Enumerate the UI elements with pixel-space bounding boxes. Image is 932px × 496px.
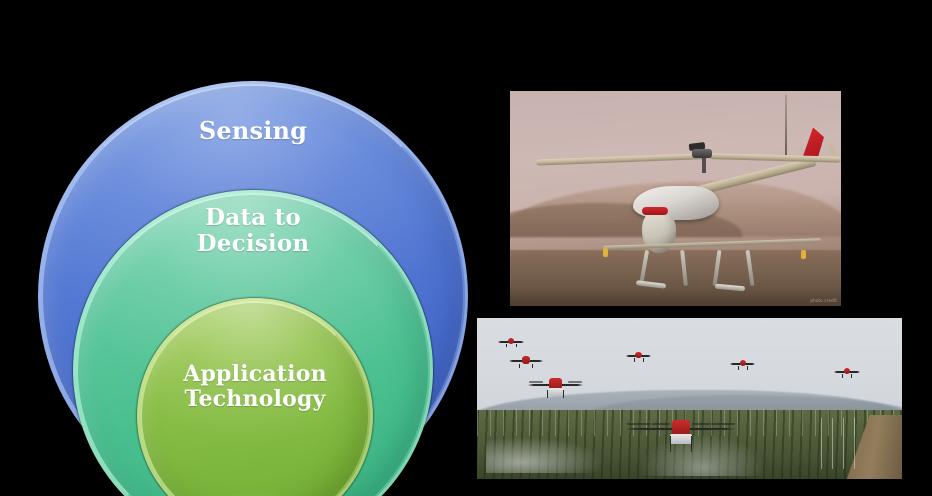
drone-foreground <box>626 415 737 446</box>
roadside-posts <box>821 418 864 470</box>
drone-5 <box>730 358 756 369</box>
drone-leg-left <box>670 436 671 452</box>
drone-leg-left <box>634 358 635 362</box>
drone-1 <box>498 336 524 347</box>
drone-leg-right <box>643 358 644 362</box>
drone-rotor-far-right <box>711 423 735 425</box>
ring-label-application-technology: Application Technology <box>137 362 373 411</box>
spray-nozzle-left <box>603 248 608 257</box>
drone-6 <box>834 366 860 377</box>
drone-leg-right <box>691 436 692 452</box>
drone-body <box>508 338 514 344</box>
ring-label-sensing: Sensing <box>38 118 468 145</box>
diagram-canvas: Sensing Data to Decision Application Tec… <box>0 0 932 496</box>
drone-leg-left <box>842 374 843 378</box>
photo-credit: photo credit <box>810 298 837 303</box>
helicopter-photo[interactable]: photo credit <box>510 91 841 306</box>
drone-leg-left <box>519 364 520 369</box>
drone-rotor-right <box>692 423 710 425</box>
drone-2 <box>509 353 543 367</box>
ring-label-data-to-decision: Data to Decision <box>73 205 433 257</box>
drone-rotor-right <box>568 381 582 383</box>
drone-leg-left <box>738 366 739 370</box>
drone-rotor-far-left <box>627 423 651 425</box>
drone-4 <box>626 350 652 361</box>
drone-leg-right <box>516 344 517 348</box>
drone-leg-right <box>851 374 852 378</box>
spray-mist-left <box>486 437 605 472</box>
drone-leg-right <box>747 366 748 370</box>
rotor-hub <box>692 149 712 158</box>
drone-rotor-left <box>529 381 543 383</box>
antenna <box>785 95 787 155</box>
ground-foreground <box>510 287 841 306</box>
drone-leg-right <box>563 390 564 398</box>
drone-body <box>522 356 530 364</box>
drone-tank <box>670 434 692 444</box>
drone-tank <box>548 388 563 396</box>
drone-body <box>844 368 850 374</box>
drone-swarm-photo[interactable] <box>477 318 902 479</box>
drone-3 <box>528 374 583 397</box>
drone-body <box>635 352 641 358</box>
spray-nozzle-right <box>801 250 806 259</box>
drone-leg-right <box>532 364 533 369</box>
drone-leg-left <box>506 344 507 348</box>
tank-cap <box>642 207 668 215</box>
drone-rotor-left <box>652 423 670 425</box>
drone-body <box>740 360 746 366</box>
drone-leg-left <box>547 390 548 398</box>
